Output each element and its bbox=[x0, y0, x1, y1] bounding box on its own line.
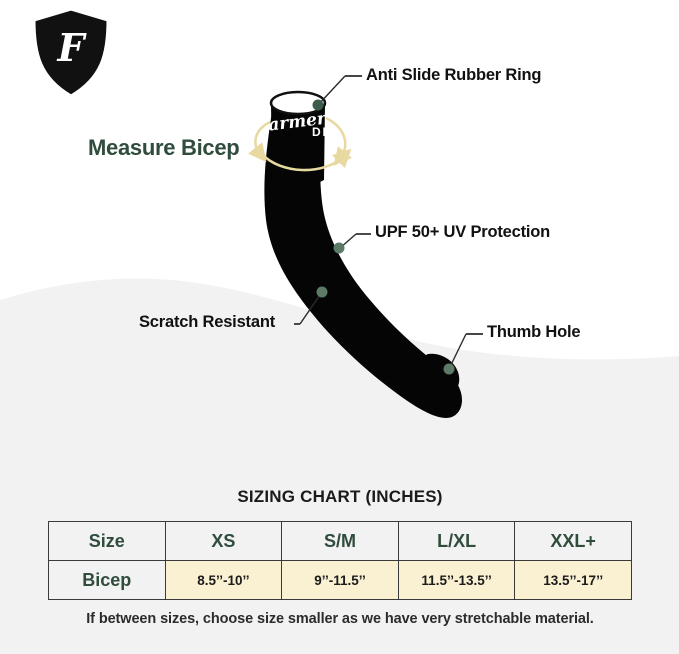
infographic-page: F Farmers DEFENSE bbox=[0, 0, 679, 654]
callout-measure-bicep: Measure Bicep bbox=[88, 135, 239, 161]
marker-dot-ring bbox=[313, 100, 324, 111]
value-cell-xs: 8.5’’-10’’ bbox=[165, 561, 282, 600]
value-cell-lxl: 11.5’’-13.5’’ bbox=[398, 561, 515, 600]
header-cell-xs: XS bbox=[165, 522, 282, 561]
value-cell-sm: 9’’-11.5’’ bbox=[282, 561, 399, 600]
header-cell-size: Size bbox=[49, 522, 166, 561]
sizing-table: Size XS S/M L/XL XXL+ Bicep 8.5’’-10’’ 9… bbox=[48, 521, 632, 600]
table-header-row: Size XS S/M L/XL XXL+ bbox=[49, 522, 632, 561]
header-cell-sm: S/M bbox=[282, 522, 399, 561]
callout-anti-slide-rubber-ring: Anti Slide Rubber Ring bbox=[366, 66, 541, 85]
sizing-chart-note: If between sizes, choose size smaller as… bbox=[48, 611, 632, 627]
marker-dot-upf bbox=[334, 243, 345, 254]
row-label-bicep: Bicep bbox=[49, 561, 166, 600]
marker-dot-scratch bbox=[317, 287, 328, 298]
header-cell-lxl: L/XL bbox=[398, 522, 515, 561]
table-row-bicep: Bicep 8.5’’-10’’ 9’’-11.5’’ 11.5’’-13.5’… bbox=[49, 561, 632, 600]
callout-scratch-resistant: Scratch Resistant bbox=[139, 313, 275, 332]
marker-dot-thumb bbox=[444, 364, 455, 375]
callout-thumb-hole: Thumb Hole bbox=[487, 323, 580, 342]
sizing-chart-block: SIZING CHART (INCHES) Size XS S/M L/XL X… bbox=[48, 487, 632, 627]
value-cell-xxl: 13.5’’-17’’ bbox=[515, 561, 632, 600]
header-cell-xxl: XXL+ bbox=[515, 522, 632, 561]
sizing-chart-title: SIZING CHART (INCHES) bbox=[48, 487, 632, 507]
callout-upf-protection: UPF 50+ UV Protection bbox=[375, 223, 550, 242]
